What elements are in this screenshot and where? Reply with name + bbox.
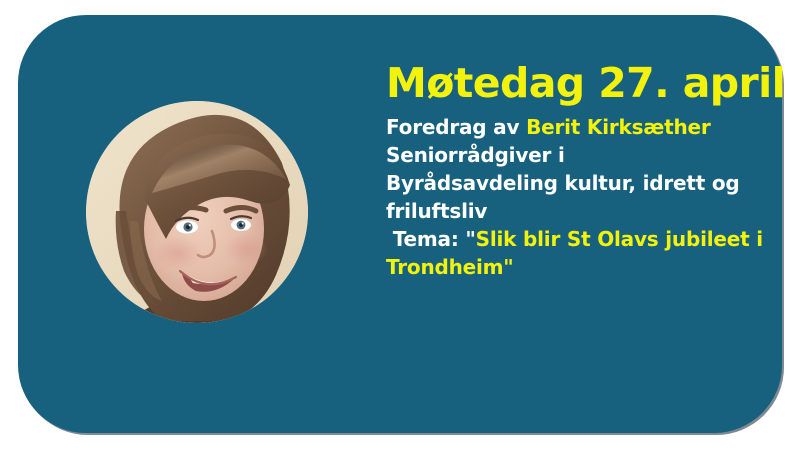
detail-line: Foredrag av Berit Kirksæther — [386, 113, 766, 141]
detail-line: Tema: "Slik blir St Olavs jubileet i — [386, 225, 766, 253]
detail-line: Byrådsavdeling kultur, idrett og — [386, 169, 766, 197]
page-title: Møtedag 27. april — [386, 59, 766, 107]
detail-text-segment: Berit Kirksæther — [526, 115, 710, 139]
detail-line: friluftsliv — [386, 197, 766, 225]
teal-content-panel: Møtedag 27. april Foredrag av Berit Kirk… — [18, 15, 782, 433]
speaker-portrait-avatar — [86, 101, 308, 323]
detail-text-segment: Slik blir St Olavs jubileet i — [476, 227, 763, 251]
detail-line: Trondheim" — [386, 253, 766, 281]
portrait-photo-image — [86, 101, 308, 323]
detail-text-segment: Trondheim" — [386, 255, 514, 279]
detail-text-segment: Foredrag av — [386, 115, 526, 139]
detail-text-segment: friluftsliv — [386, 199, 487, 223]
speaker-details-list: Foredrag av Berit KirksætherSeniorrådgiv… — [386, 113, 766, 281]
detail-text-segment: Tema: " — [386, 227, 476, 251]
detail-text-segment: Seniorrådgiver i — [386, 143, 565, 167]
slide-canvas: Møtedag 27. april Foredrag av Berit Kirk… — [0, 0, 800, 450]
detail-line: Seniorrådgiver i — [386, 141, 766, 169]
text-column: Møtedag 27. april Foredrag av Berit Kirk… — [386, 59, 766, 281]
detail-text-segment: Byrådsavdeling kultur, idrett og — [386, 171, 740, 195]
